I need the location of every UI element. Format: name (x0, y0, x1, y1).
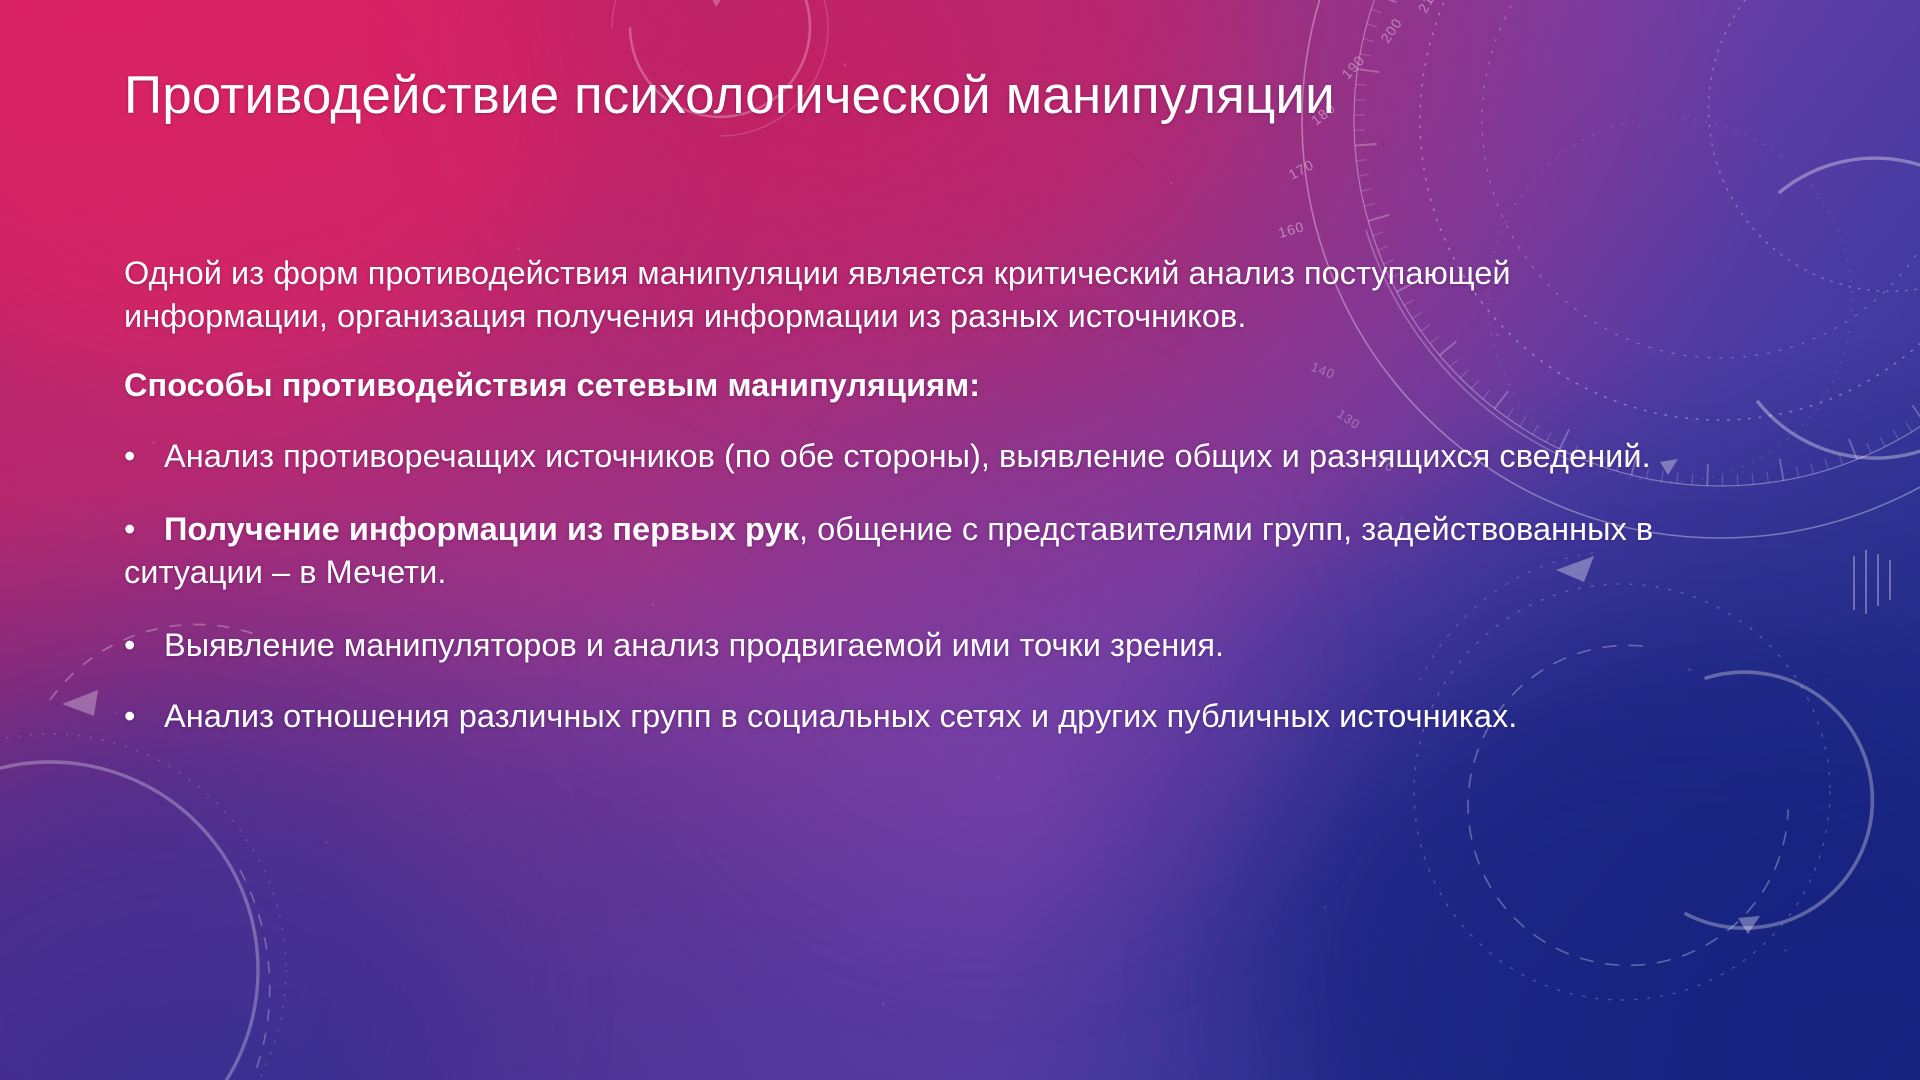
bullet-glyph-icon: • (124, 435, 164, 478)
list-item: •Анализ противоречащих источников (по об… (124, 435, 1714, 478)
body-heading: Способы противодействия сетевым манипуля… (124, 364, 1764, 407)
slide-title: Противодействие психологической манипуля… (124, 66, 1335, 125)
list-item-text: Выявление манипуляторов и анализ продвиг… (164, 627, 1224, 663)
bullet-glyph-icon: • (124, 624, 164, 667)
bullet-glyph-icon: • (124, 508, 164, 551)
list-item-text: Анализ отношения различных групп в социа… (164, 698, 1517, 734)
list-item-bold-text: Получение информации из первых рук (164, 511, 799, 547)
list-item: •Получение информации из первых рук, общ… (124, 508, 1714, 594)
list-item: •Выявление манипуляторов и анализ продви… (124, 624, 1714, 667)
slide-body: Одной из форм противодействия манипуляци… (124, 252, 1764, 768)
presentation-slide: 210 200 190 180 170 160 140 130 120 (0, 0, 1920, 1080)
list-item-text: Анализ противоречащих источников (по обе… (164, 438, 1651, 474)
bullet-glyph-icon: • (124, 695, 164, 738)
intro-paragraph: Одной из форм противодействия манипуляци… (124, 252, 1684, 338)
list-item: •Анализ отношения различных групп в соци… (124, 695, 1714, 738)
